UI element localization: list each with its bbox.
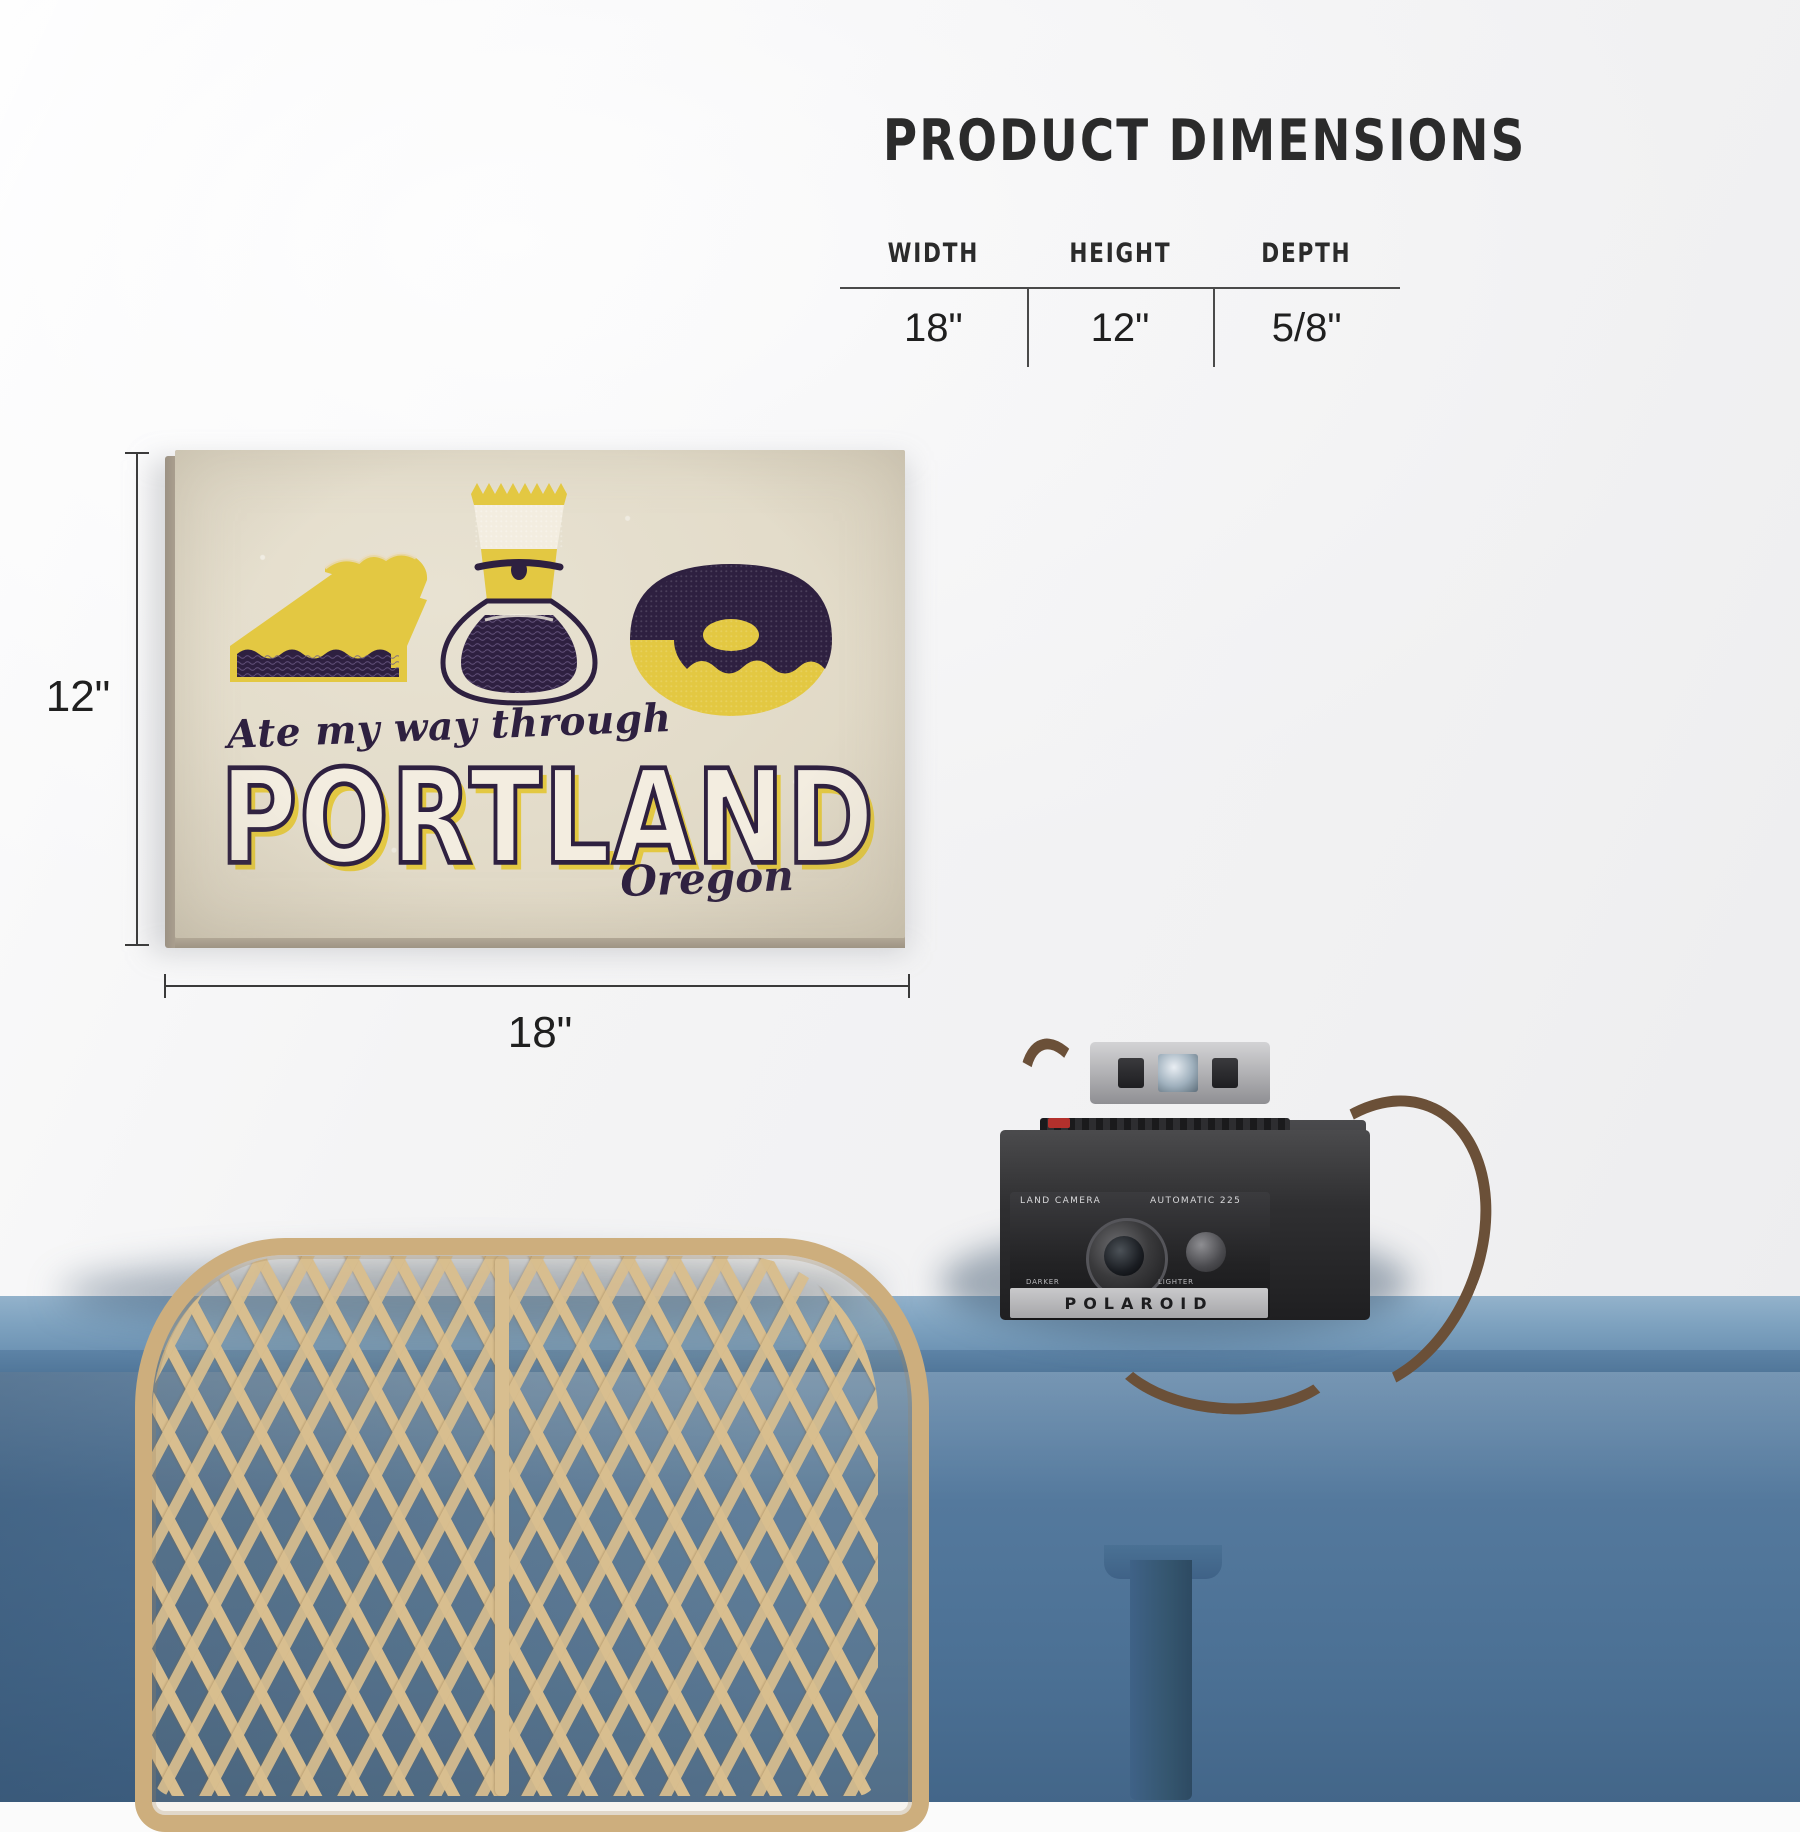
camera-viewfinder-window <box>1158 1054 1198 1092</box>
camera-viewfinder-left <box>1118 1058 1144 1088</box>
header: PRODUCT DIMENSIONS <box>828 108 1438 174</box>
height-measure-cap-bottom <box>125 944 149 946</box>
width-measure-cap-right <box>908 974 910 998</box>
height-measure-line <box>136 452 138 946</box>
width-measure-cap-left <box>164 974 166 998</box>
camera-label-model: AUTOMATIC 225 <box>1150 1196 1241 1206</box>
wood-sign-product: Ate my way through PORTLAND Oregon <box>165 450 905 945</box>
camera-red-button <box>1048 1118 1070 1128</box>
dimensions-table: WIDTH HEIGHT DEPTH 18" 12" 5/8" <box>840 238 1400 367</box>
page-title: PRODUCT DIMENSIONS <box>883 108 1383 174</box>
width-measure-label: 18" <box>420 1008 660 1058</box>
value-depth: 5/8" <box>1213 289 1400 367</box>
table-leg <box>1130 1560 1192 1800</box>
camera-label-darker: DARKER <box>1026 1278 1060 1286</box>
height-measure-label: 12" <box>26 672 130 722</box>
camera-viewfinder-right <box>1212 1058 1238 1088</box>
column-header-width: WIDTH <box>859 238 1008 287</box>
value-width: 18" <box>840 289 1027 367</box>
sign-face: Ate my way through PORTLAND Oregon <box>175 450 905 938</box>
table-header-row: WIDTH HEIGHT DEPTH <box>840 238 1400 287</box>
chair-frame <box>135 1238 929 1832</box>
width-measure-line <box>164 985 910 987</box>
wicker-chair <box>120 1230 910 1805</box>
column-header-height: HEIGHT <box>1045 238 1194 287</box>
height-measure-cap-top <box>125 452 149 454</box>
table-value-row: 18" 12" 5/8" <box>840 289 1400 367</box>
sign-vignette <box>175 450 905 938</box>
camera-lens-glass <box>1104 1236 1144 1276</box>
column-header-depth: DEPTH <box>1232 238 1381 287</box>
camera-label-land-camera: LAND CAMERA <box>1020 1196 1101 1206</box>
scene-stage: PRODUCT DIMENSIONS WIDTH HEIGHT DEPTH 18… <box>0 0 1800 1800</box>
value-height: 12" <box>1027 289 1214 367</box>
